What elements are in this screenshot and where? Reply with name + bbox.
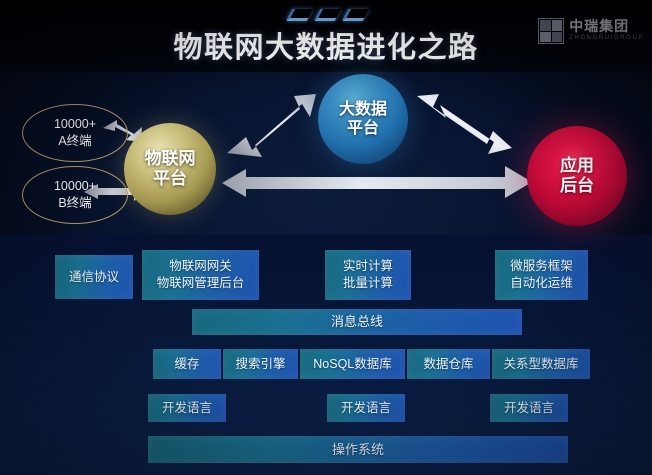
node-bigdata-platform-line2: 平台	[339, 119, 387, 138]
node-iot-platform-line2: 平台	[145, 169, 196, 189]
brand-logo: 中瑞集团 ZHONGRUIGROUP	[538, 18, 644, 44]
chevron-down-icon	[317, 9, 335, 18]
node-app-backend-line1: 应用	[560, 156, 594, 176]
chevron-down-icon	[345, 9, 363, 18]
stack-box-microservice-line1: 微服务框架	[510, 258, 573, 275]
logo-name-cn: 中瑞集团	[569, 19, 644, 34]
terminal-ellipse-b: 10000+ B终端	[22, 166, 128, 224]
stack-box-dev-language-3: 开发语言	[490, 394, 568, 422]
stack-box-relational-database: 关系型数据库	[492, 349, 590, 379]
stack-box-communication-protocol-line1: 通信协议	[69, 269, 119, 286]
stack-box-microservice-line2: 自动化运维	[510, 275, 573, 292]
stack-box-data-warehouse: 数据仓库	[407, 349, 490, 379]
slide-canvas: 物联网大数据进化之路 中瑞集团 ZHONGRUIGROUP	[0, 0, 652, 475]
node-bigdata-platform-line1: 大数据	[339, 100, 387, 119]
terminal-b-line2: B终端	[54, 195, 96, 212]
stack-box-nosql-database: NoSQL数据库	[300, 349, 405, 379]
stack-box-search-engine: 搜索引擎	[223, 349, 298, 379]
stack-box-microservice: 微服务框架 自动化运维	[495, 250, 588, 300]
chevron-down-icon	[289, 9, 307, 18]
stack-box-dev-language-1: 开发语言	[148, 394, 226, 422]
node-app-backend-line2: 后台	[560, 176, 594, 196]
logo-mark-icon	[538, 18, 564, 44]
terminal-a-line1: 10000+	[54, 116, 96, 133]
node-iot-platform-line1: 物联网	[145, 149, 196, 169]
logo-name-en: ZHONGRUIGROUP	[569, 34, 644, 43]
stack-box-computing: 实时计算 批量计算	[325, 250, 411, 300]
logo-text-block: 中瑞集团 ZHONGRUIGROUP	[569, 19, 644, 43]
stack-box-iot-gateway-line1: 物联网网关	[157, 258, 245, 275]
stack-box-iot-gateway: 物联网网关 物联网管理后台	[142, 250, 259, 300]
stack-box-computing-line1: 实时计算	[343, 258, 393, 275]
node-iot-platform: 物联网 平台	[124, 123, 216, 215]
node-app-backend: 应用 后台	[527, 126, 627, 226]
stack-box-iot-gateway-line2: 物联网管理后台	[157, 275, 245, 292]
stack-box-dev-language-2: 开发语言	[327, 394, 405, 422]
terminal-b-line1: 10000+	[54, 178, 96, 195]
stack-box-cache: 缓存	[153, 349, 221, 379]
stack-bar-message-bus: 消息总线	[192, 309, 522, 335]
stack-bar-operating-system: 操作系统	[148, 436, 568, 463]
terminal-a-line2: A终端	[54, 133, 96, 150]
node-bigdata-platform: 大数据 平台	[318, 74, 408, 164]
stack-box-communication-protocol: 通信协议	[55, 255, 133, 299]
terminal-ellipse-a: 10000+ A终端	[22, 104, 128, 162]
stack-box-computing-line2: 批量计算	[343, 275, 393, 292]
